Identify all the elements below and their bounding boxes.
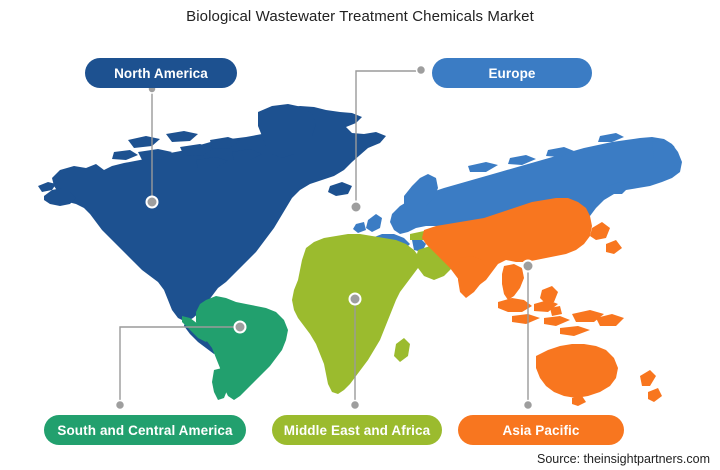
region-label-south-and-central-america[interactable]: South and Central America <box>44 415 246 445</box>
region-label-europe[interactable]: Europe <box>432 58 592 88</box>
source-attribution: Source: theinsightpartners.com <box>537 452 710 466</box>
region-label-middle-east-and-africa[interactable]: Middle East and Africa <box>272 415 442 445</box>
region-shape-south-and-central-america[interactable] <box>182 296 288 400</box>
regional-market-map-infographic: Biological Wastewater Treatment Chemical… <box>0 0 720 470</box>
region-label-asia-pacific[interactable]: Asia Pacific <box>458 415 624 445</box>
region-label-north-america[interactable]: North America <box>85 58 237 88</box>
region-shape-asia-pacific[interactable] <box>422 198 662 406</box>
